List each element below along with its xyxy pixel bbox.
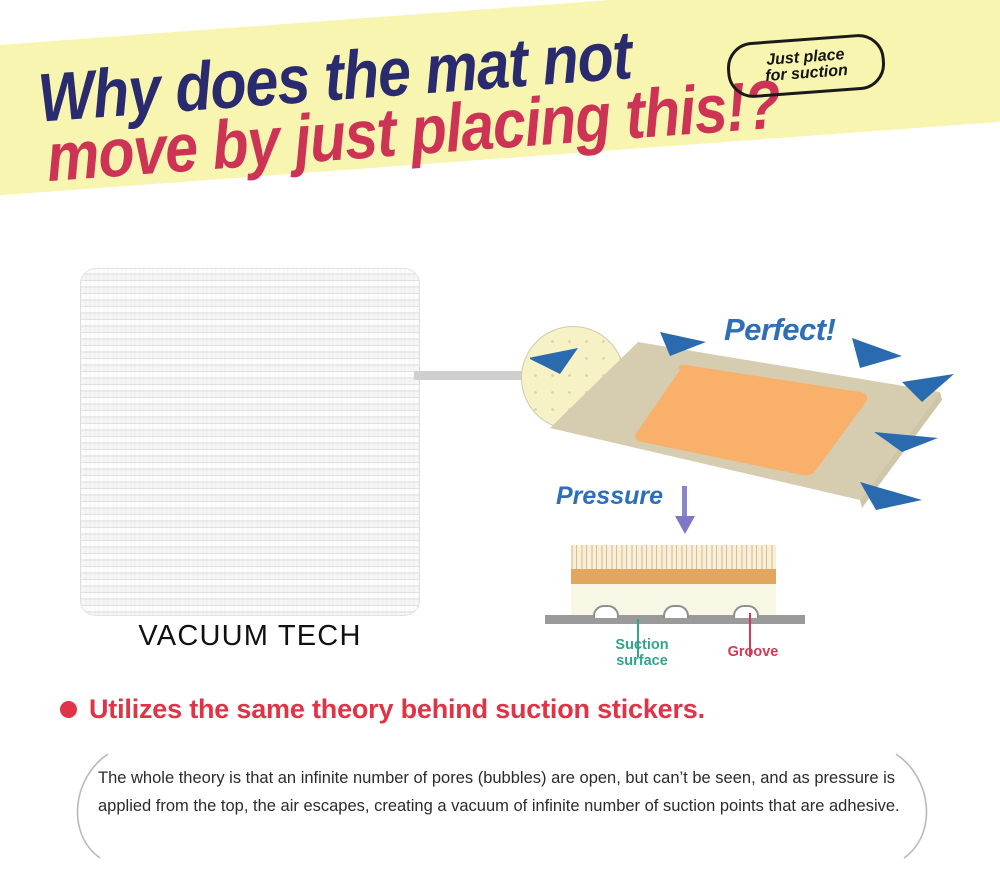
bullet-headline-row: Utilizes the same theory behind suction … bbox=[60, 694, 705, 725]
explanation-paragraph: The whole theory is that an infinite num… bbox=[98, 764, 908, 821]
groove-arch bbox=[733, 605, 759, 618]
just-place-badge: Just place for suction bbox=[725, 32, 887, 99]
mat-caption: VACUUM TECH bbox=[80, 620, 420, 653]
suction-caption-line-2: surface bbox=[596, 653, 688, 669]
suction-surface-caption: Suction surface bbox=[596, 637, 688, 669]
suction-caption-line-1: Suction bbox=[596, 637, 688, 653]
arrow-icon-right-bot bbox=[860, 482, 922, 510]
cross-section-diagram bbox=[545, 545, 805, 635]
bullet-dot-icon bbox=[60, 701, 77, 718]
pressure-label: Pressure bbox=[556, 482, 663, 511]
pressure-arrow-icon bbox=[672, 486, 698, 536]
infographic-canvas: Why does the mat not move by just placin… bbox=[0, 0, 1000, 869]
vacuum-mat-image bbox=[80, 268, 420, 616]
mat-texture-overlay bbox=[80, 268, 420, 616]
arrow-icon-top-left bbox=[530, 348, 578, 374]
suction-stripes-layer bbox=[571, 545, 776, 569]
orange-layer bbox=[571, 569, 776, 584]
groove-arch bbox=[663, 605, 689, 618]
arrow-icon-top-right bbox=[852, 338, 902, 368]
groove-caption: Groove bbox=[708, 644, 798, 660]
bullet-headline: Utilizes the same theory behind suction … bbox=[89, 694, 705, 725]
badge-line-2: for suction bbox=[765, 63, 849, 85]
groove-arch bbox=[593, 605, 619, 618]
header-banner bbox=[0, 0, 1000, 198]
